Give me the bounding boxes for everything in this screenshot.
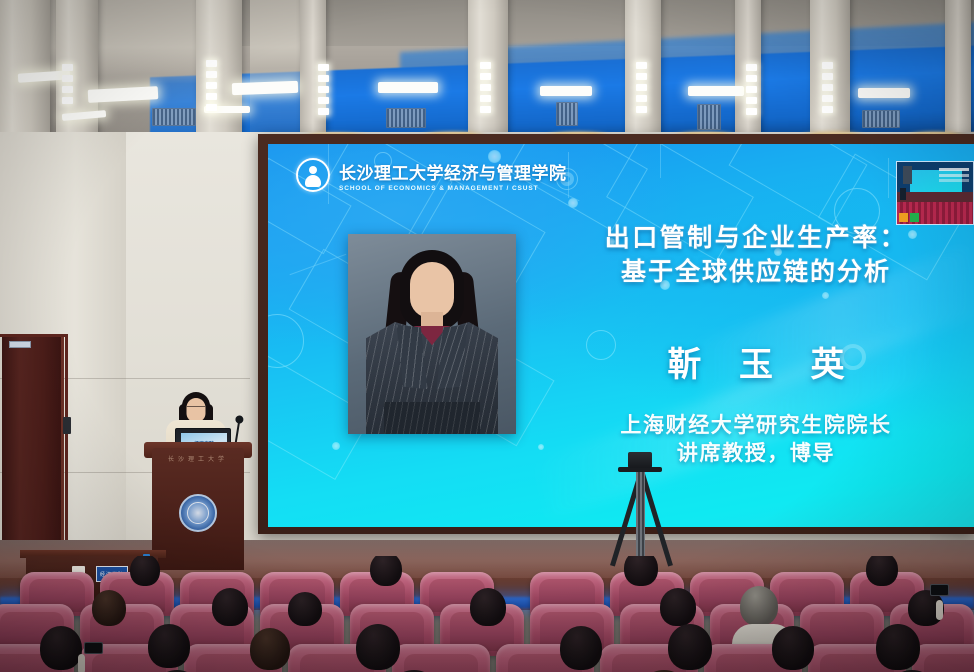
connector-line: [660, 144, 661, 178]
audience-head: [212, 588, 248, 626]
ceiling-led-strip: [206, 60, 217, 111]
door-sign: [9, 341, 31, 348]
audience-head: [772, 626, 814, 670]
ceiling-rib: [0, 0, 50, 140]
speaker-portrait-photo: [348, 234, 516, 434]
pip-speaker: [900, 188, 906, 200]
ceiling-light-fixture: [232, 81, 298, 95]
tripod-camera-head: [628, 452, 652, 468]
air-vent: [862, 110, 900, 128]
audience-arm: [936, 600, 943, 620]
smartphone[interactable]: [84, 642, 103, 654]
connector-line: [888, 158, 889, 198]
ceiling-light-fixture: [688, 86, 744, 96]
side-exit-door[interactable]: [2, 337, 64, 545]
university-seal-icon: [179, 494, 217, 532]
audience-head: [92, 590, 126, 626]
lecture-hall-photo: 长沙理工大学经济与管理学院 SCHOOL OF ECONOMICS & MANA…: [0, 0, 974, 672]
decor-dot: [332, 442, 340, 450]
decor-dot: [568, 198, 578, 208]
portrait-skirt: [384, 402, 480, 434]
audience-area: [0, 556, 974, 672]
audience-head: [624, 556, 658, 586]
pip-audience-seats: [897, 202, 973, 224]
ceiling-light-fixture: [540, 86, 592, 96]
school-name-en: SCHOOL OF ECONOMICS & MANAGEMENT / CSUST: [339, 185, 567, 192]
ceiling-led-strip: [480, 62, 491, 113]
slide-title-line2: 基于全球供应链的分析: [550, 256, 962, 290]
ceiling-light-fixture: [378, 82, 438, 93]
ceiling-led-strip: [62, 64, 73, 104]
portrait-face: [410, 262, 454, 318]
ceiling-led-strip: [746, 64, 757, 115]
ceiling: [0, 0, 974, 140]
audience-head: [250, 628, 290, 670]
audience-arm: [78, 654, 85, 672]
pip-badge-orange: [899, 213, 908, 222]
pip-portrait: [903, 166, 912, 184]
ceiling-led-strip: [822, 62, 833, 113]
air-vent: [152, 108, 196, 126]
glasses-icon: [187, 406, 205, 410]
decor-ring: [268, 314, 304, 368]
air-vent: [556, 102, 578, 126]
university-crest-icon: [296, 158, 330, 192]
ceiling-rib: [196, 0, 242, 140]
audience-head: [560, 626, 602, 670]
live-camera-inset: [896, 161, 974, 225]
audience-head: [470, 588, 506, 626]
auditorium-seat[interactable]: [912, 644, 974, 672]
school-logo: 长沙理工大学经济与管理学院 SCHOOL OF ECONOMICS & MANA…: [296, 158, 567, 192]
audience-head: [866, 556, 898, 586]
presenter-face: [187, 398, 206, 422]
audience-head: [876, 624, 920, 670]
audience-head: [740, 586, 778, 626]
school-name-cn: 长沙理工大学经济与管理学院: [339, 159, 567, 184]
decor-dot: [538, 444, 544, 450]
audience-head: [370, 556, 402, 586]
audience-head: [40, 626, 82, 670]
slide-title-line1: 出口管制与企业生产率：: [550, 222, 962, 256]
audience-head: [356, 624, 400, 670]
card-reader-icon[interactable]: [63, 417, 71, 434]
audience-head: [668, 624, 712, 670]
audience-head: [130, 556, 160, 586]
podium-text: 长沙理工大学: [168, 454, 228, 463]
pip-text-lines: [939, 168, 969, 171]
audience-head: [288, 592, 322, 626]
ceiling-led-strip: [318, 64, 329, 115]
slide-speaker-name: 靳 玉 英: [550, 337, 962, 386]
ceiling-rib: [945, 0, 971, 140]
slide-title: 出口管制与企业生产率： 基于全球供应链的分析: [550, 222, 962, 289]
affiliation-line1: 上海财经大学研究生院院长: [550, 412, 962, 440]
pip-badge-green: [910, 213, 919, 222]
air-vent: [697, 104, 721, 130]
ceiling-led-strip: [636, 62, 647, 113]
auditorium-seat[interactable]: [392, 644, 490, 672]
audience-head: [148, 624, 190, 668]
smartphone[interactable]: [930, 584, 949, 596]
camera-tripod-icon: [612, 452, 668, 570]
air-vent: [386, 108, 426, 128]
audience-head: [660, 588, 696, 626]
pip-stage: [897, 192, 973, 202]
ceiling-light-fixture: [858, 88, 910, 98]
